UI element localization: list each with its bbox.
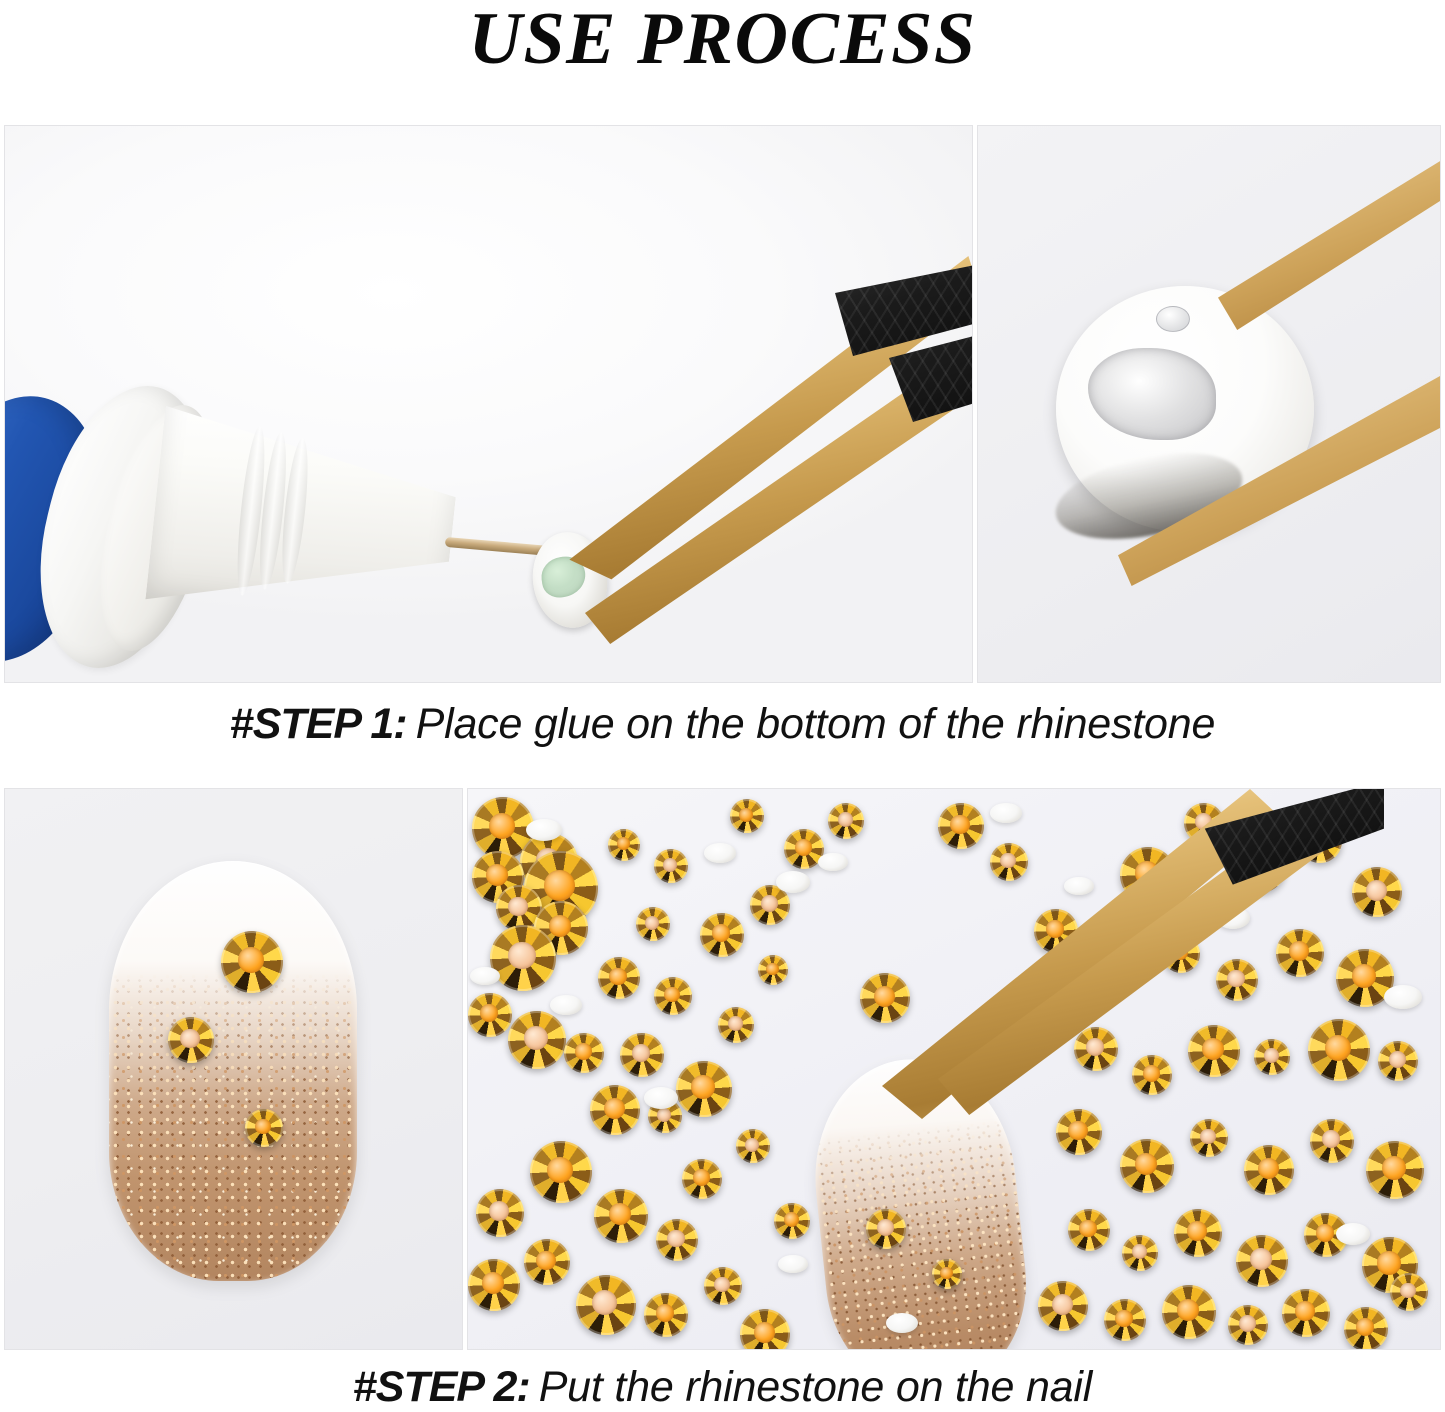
scattered-rhinestone <box>1352 867 1402 917</box>
scattered-rhinestone <box>594 1189 648 1243</box>
flipped-rhinestone <box>550 995 582 1015</box>
nail-rhinestone-middle <box>168 1017 214 1063</box>
scattered-rhinestone <box>682 1159 722 1199</box>
step-1-label: #STEP 1: <box>230 700 407 748</box>
glue-applicator-photo <box>4 125 973 683</box>
scattered-rhinestone <box>1344 1307 1388 1350</box>
scattered-rhinestone <box>620 1033 664 1077</box>
nail-rhinestone-top <box>221 931 283 993</box>
nail-glitter-gradient <box>810 1115 1037 1350</box>
scattered-rhinestone <box>636 907 670 941</box>
scattered-rhinestone <box>1038 1281 1088 1331</box>
flipped-rhinestone <box>704 843 736 863</box>
scattered-rhinestone <box>1122 1235 1158 1271</box>
step-2-label: #STEP 2: <box>353 1363 530 1411</box>
step-1-caption: #STEP 1:Place glue on the bottom of the … <box>0 700 1445 749</box>
scattered-rhinestone <box>1174 1209 1222 1257</box>
scattered-rhinestone <box>1056 1109 1102 1155</box>
scattered-rhinestone <box>704 1267 742 1305</box>
scattered-rhinestone <box>1132 1055 1172 1095</box>
flipped-rhinestone <box>1384 985 1422 1009</box>
flipped-rhinestone <box>1064 877 1094 895</box>
scattered-rhinestone <box>1162 1285 1216 1339</box>
scattered-rhinestone <box>530 1141 592 1203</box>
scattered-rhinestone <box>576 1275 636 1335</box>
flipped-rhinestone <box>526 819 562 841</box>
nail-rhinestone-lower <box>245 1109 283 1147</box>
scattered-rhinestone <box>508 1011 566 1069</box>
scattered-rhinestone <box>730 799 764 833</box>
scattered-rhinestone <box>608 829 640 861</box>
flipped-rhinestone <box>644 1087 678 1109</box>
nail-tip <box>109 861 357 1281</box>
flipped-rhinestone <box>990 803 1022 823</box>
scattered-rhinestone <box>476 1189 524 1237</box>
scattered-rhinestone <box>718 1007 754 1043</box>
scattered-rhinestone <box>700 913 744 957</box>
scattered-rhinestone <box>590 1085 640 1135</box>
flipped-rhinestone <box>470 967 500 985</box>
scattered-rhinestone <box>468 993 512 1037</box>
scattered-rhinestone <box>1282 1289 1330 1337</box>
rhinestone-back-closeup-photo <box>977 125 1441 683</box>
scattered-rhinestone <box>654 849 688 883</box>
scattered-rhinestone <box>774 1203 810 1239</box>
scattered-rhinestone <box>758 955 788 985</box>
decorated-nail-photo <box>4 788 463 1350</box>
step-1-image-row <box>0 125 1445 683</box>
flipped-rhinestone <box>886 1313 918 1333</box>
scattered-rhinestone <box>1120 1139 1174 1193</box>
flipped-rhinestone <box>778 1255 808 1273</box>
scattered-rhinestone <box>1068 1209 1110 1251</box>
step-2-image-row <box>0 788 1445 1350</box>
infographic-page: USE PROCESS <box>0 0 1445 1412</box>
page-title: USE PROCESS <box>0 0 1445 118</box>
scattered-rhinestone <box>656 1219 698 1261</box>
scattered-rhinestone <box>1254 1039 1290 1075</box>
scattered-rhinestone <box>654 977 692 1015</box>
scattered-rhinestone <box>1074 1027 1118 1071</box>
scattered-rhinestone <box>1276 929 1324 977</box>
nail-rhinestone <box>932 1259 962 1289</box>
scattered-rhinestone <box>1366 1141 1424 1199</box>
flipped-rhinestone <box>818 853 848 871</box>
scattered-rhinestone <box>1216 959 1258 1001</box>
scattered-rhinestone <box>1390 1273 1428 1311</box>
flipped-rhinestone <box>1336 1223 1370 1245</box>
scattered-rhinestone <box>1188 1025 1240 1077</box>
scattered-rhinestone <box>1104 1299 1146 1341</box>
step-1-text: Place glue on the bottom of the rhinesto… <box>416 700 1216 748</box>
scattered-rhinestone <box>564 1033 604 1073</box>
scattered-rhinestone <box>1236 1235 1288 1287</box>
glue-smear <box>1088 348 1216 440</box>
scattered-rhinestone <box>598 957 640 999</box>
scattered-rhinestone <box>1308 1019 1370 1081</box>
scattered-rhinestone <box>736 1129 770 1163</box>
rhinestone-in-tweezers <box>860 973 910 1023</box>
scattered-rhinestone <box>1228 1305 1268 1345</box>
step-2-text: Put the rhinestone on the nail <box>539 1363 1092 1411</box>
scattered-rhinestone <box>1244 1145 1294 1195</box>
scattered-rhinestone <box>938 803 984 849</box>
scattered-rhinestone <box>1190 1119 1228 1157</box>
scattered-rhinestone <box>644 1293 688 1337</box>
scattered-rhinestone <box>1310 1119 1354 1163</box>
nail-rhinestone <box>866 1209 906 1249</box>
flipped-rhinestone <box>776 871 810 893</box>
glue-bubble <box>1156 306 1190 332</box>
nail-glitter-gradient <box>109 970 357 1281</box>
scattered-rhinestone <box>828 803 864 839</box>
scattered-rhinestone <box>524 1239 570 1285</box>
scattered-rhinestone <box>490 925 556 991</box>
rhinestones-scatter-photo <box>467 788 1441 1350</box>
scattered-rhinestone <box>468 1259 520 1311</box>
scattered-rhinestone <box>1378 1041 1418 1081</box>
scattered-rhinestone <box>676 1061 732 1117</box>
scattered-rhinestone <box>990 843 1028 881</box>
step-2-caption: #STEP 2:Put the rhinestone on the nail <box>0 1363 1445 1412</box>
